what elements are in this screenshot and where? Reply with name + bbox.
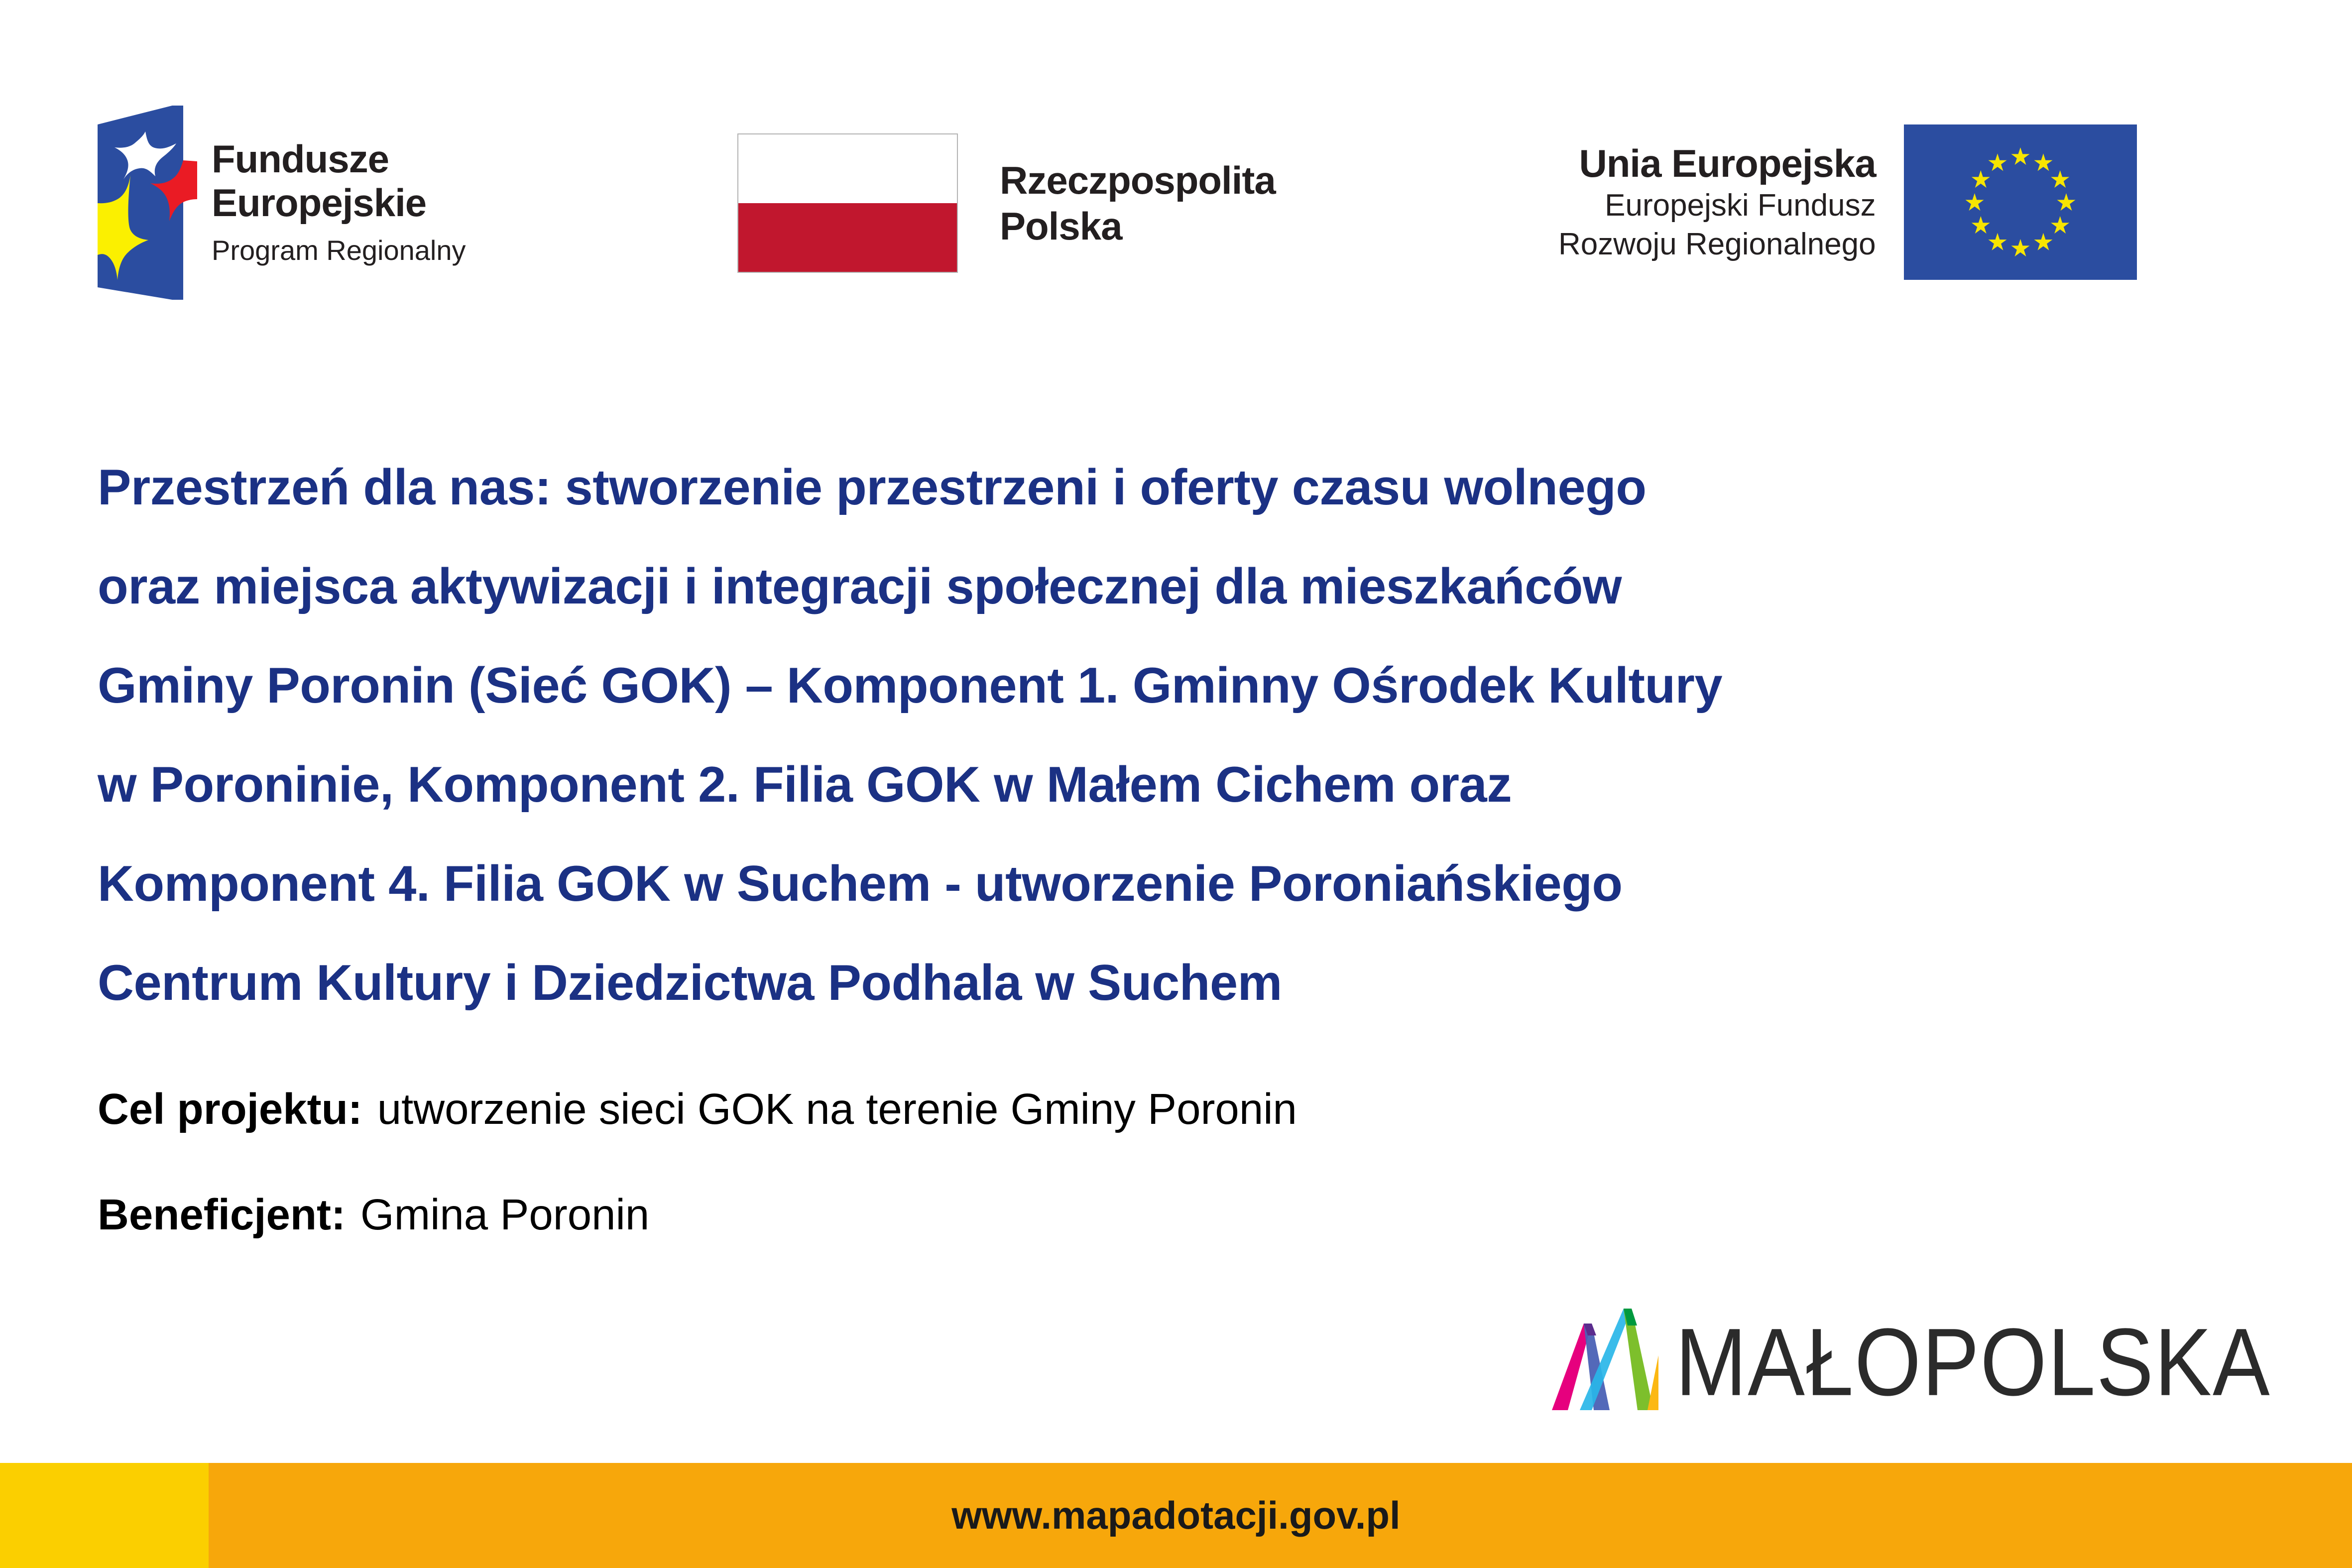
title-line-1: Przestrzeń dla nas: stworzenie przestrze… <box>98 438 2179 537</box>
fe-line-3: Program Regionalny <box>212 233 466 268</box>
project-goal-value: utworzenie sieci GOK na terenie Gminy Po… <box>377 1085 1297 1133</box>
project-title: Przestrzeń dla nas: stworzenie przestrze… <box>98 438 2179 1033</box>
fundusze-europejskie-logo: Fundusze Europejskie Program Regionalny <box>98 106 466 300</box>
project-goal-label: Cel projektu: <box>98 1085 362 1133</box>
beneficiary-value: Gmina Poronin <box>360 1191 649 1239</box>
fe-line-1: Fundusze <box>212 137 466 181</box>
title-line-3: Gminy Poronin (Sieć GOK) – Komponent 1. … <box>98 636 2179 735</box>
european-union-flag-icon <box>1904 124 2137 280</box>
project-goal-row: Cel projektu:utworzenie sieci GOK na ter… <box>98 1085 1297 1134</box>
fe-line-2: Europejskie <box>212 181 466 225</box>
title-line-5: Komponent 4. Filia GOK w Suchem - utworz… <box>98 835 2179 934</box>
rzeczpospolita-polska-logo: Rzeczpospolita Polska <box>737 133 1276 273</box>
beneficiary-row: Beneficjent:Gmina Poronin <box>98 1190 649 1240</box>
fundusze-europejskie-text: Fundusze Europejskie Program Regionalny <box>212 137 466 268</box>
malopolska-mark-icon <box>1540 1303 1662 1410</box>
malopolska-logo: MAŁOPOLSKA <box>1540 1303 2271 1410</box>
fundusze-europejskie-emblem-icon <box>98 106 200 300</box>
footer-bar: www.mapadotacji.gov.pl <box>0 1463 2352 1568</box>
title-line-2: oraz miejsca aktywizacji i integracji sp… <box>98 537 2179 636</box>
rp-line-2: Polska <box>1000 203 1276 249</box>
ue-line-1: Unia Europejska <box>1558 140 1876 186</box>
poland-flag-red-stripe <box>738 203 957 272</box>
poland-flag-white-stripe <box>738 134 957 203</box>
footer-url-link[interactable]: www.mapadotacji.gov.pl <box>0 1463 2352 1568</box>
rzeczpospolita-polska-text: Rzeczpospolita Polska <box>1000 157 1276 249</box>
ue-line-2: Europejski Fundusz <box>1558 186 1876 225</box>
unia-europejska-logo: Unia Europejska Europejski Fundusz Rozwo… <box>1558 124 2137 280</box>
beneficiary-label: Beneficjent: <box>98 1191 346 1239</box>
title-line-6: Centrum Kultury i Dziedzictwa Podhala w … <box>98 934 2179 1033</box>
poland-flag-icon <box>737 133 958 273</box>
logo-strip: Fundusze Europejskie Program Regionalny … <box>0 0 2352 349</box>
unia-europejska-text: Unia Europejska Europejski Fundusz Rozwo… <box>1558 140 1876 264</box>
title-line-4: w Poroninie, Komponent 2. Filia GOK w Ma… <box>98 735 2179 835</box>
rp-line-1: Rzeczpospolita <box>1000 157 1276 203</box>
ue-line-3: Rozwoju Regionalnego <box>1558 225 1876 264</box>
malopolska-wordmark: MAŁOPOLSKA <box>1675 1314 2271 1410</box>
